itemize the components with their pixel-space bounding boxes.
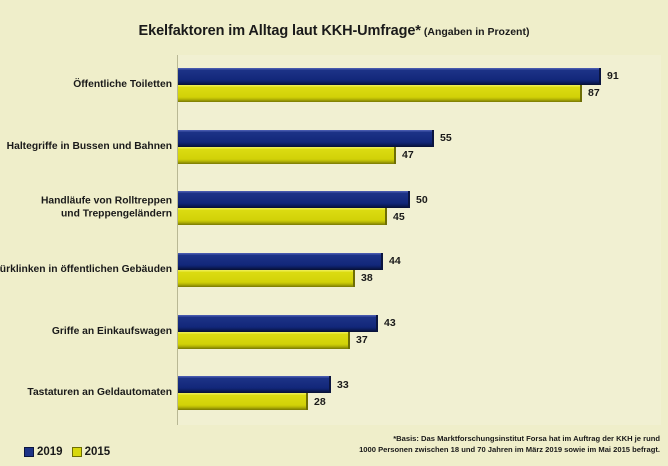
bar-value-label: 33 xyxy=(337,379,349,391)
bar-value-label: 91 xyxy=(607,70,619,82)
bar-2019[interactable] xyxy=(178,315,378,332)
category-label: Tastaturen an Geldautomaten xyxy=(0,387,172,400)
bar-2019[interactable] xyxy=(178,253,383,270)
bar-group: Öffentliche Toiletten9187 xyxy=(178,68,661,102)
legend-item-2019[interactable]: 2019 xyxy=(24,446,63,458)
bar-group: Haltegriffe in Bussen und Bahnen5547 xyxy=(178,130,661,164)
table-row: 28 xyxy=(178,393,661,410)
chart-container: Ekelfaktoren im Alltag laut KKH-Umfrage*… xyxy=(0,0,668,466)
table-row: 33 xyxy=(178,376,661,393)
bar-value-label: 55 xyxy=(440,132,452,144)
bar-group: Tastaturen an Geldautomaten3328 xyxy=(178,376,661,410)
footnote-line-1: *Basis: Das Marktforschungsinstitut Fors… xyxy=(320,433,660,444)
bar-2019[interactable] xyxy=(178,191,410,208)
bar-2019[interactable] xyxy=(178,130,434,147)
bar-value-label: 38 xyxy=(361,272,373,284)
chart-title-block: Ekelfaktoren im Alltag laut KKH-Umfrage*… xyxy=(0,22,668,40)
bar-2015[interactable] xyxy=(178,147,396,164)
category-label: Türklinken in öffentlichen Gebäuden xyxy=(0,264,172,277)
bar-value-label: 37 xyxy=(356,334,368,346)
footnote: *Basis: Das Marktforschungsinstitut Fors… xyxy=(320,433,660,455)
bar-value-label: 87 xyxy=(588,87,600,99)
table-row: 55 xyxy=(178,130,661,147)
bar-group: Türklinken in öffentlichen Gebäuden4438 xyxy=(178,253,661,287)
category-label: Haltegriffe in Bussen und Bahnen xyxy=(0,140,172,153)
bar-2019[interactable] xyxy=(178,68,601,85)
legend-label-2015: 2015 xyxy=(85,446,111,458)
table-row: 37 xyxy=(178,332,661,349)
category-label: Handläufe von Rolltreppenund Treppengelä… xyxy=(0,196,172,221)
legend-swatch-icon-2019 xyxy=(24,447,34,457)
bar-2015[interactable] xyxy=(178,208,387,225)
bar-value-label: 47 xyxy=(402,149,414,161)
bar-2015[interactable] xyxy=(178,393,308,410)
chart-legend: 2019 2015 xyxy=(24,446,110,458)
category-label: Griffe an Einkaufswagen xyxy=(0,325,172,338)
table-row: 47 xyxy=(178,147,661,164)
table-row: 91 xyxy=(178,68,661,85)
bar-value-label: 43 xyxy=(384,317,396,329)
bar-group: Griffe an Einkaufswagen4337 xyxy=(178,315,661,349)
table-row: 44 xyxy=(178,253,661,270)
footnote-line-2: 1000 Personen zwischen 18 und 70 Jahren … xyxy=(320,444,660,455)
legend-label-2019: 2019 xyxy=(37,446,63,458)
table-row: 87 xyxy=(178,85,661,102)
legend-item-2015[interactable]: 2015 xyxy=(72,446,111,458)
bar-value-label: 28 xyxy=(314,396,326,408)
bar-2019[interactable] xyxy=(178,376,331,393)
bar-2015[interactable] xyxy=(178,85,582,102)
plot-area: Öffentliche Toiletten9187Haltegriffe in … xyxy=(177,55,661,425)
table-row: 45 xyxy=(178,208,661,225)
page-title: Ekelfaktoren im Alltag laut KKH-Umfrage* xyxy=(139,23,421,39)
bar-value-label: 45 xyxy=(393,211,405,223)
bar-2015[interactable] xyxy=(178,332,350,349)
legend-swatch-icon-2015 xyxy=(72,447,82,457)
bar-group: Handläufe von Rolltreppenund Treppengelä… xyxy=(178,191,661,225)
table-row: 50 xyxy=(178,191,661,208)
bar-2015[interactable] xyxy=(178,270,355,287)
category-label: Öffentliche Toiletten xyxy=(0,79,172,92)
bar-value-label: 44 xyxy=(389,255,401,267)
bar-value-label: 50 xyxy=(416,194,428,206)
chart-subtitle: (Angaben in Prozent) xyxy=(424,26,530,38)
table-row: 43 xyxy=(178,315,661,332)
table-row: 38 xyxy=(178,270,661,287)
